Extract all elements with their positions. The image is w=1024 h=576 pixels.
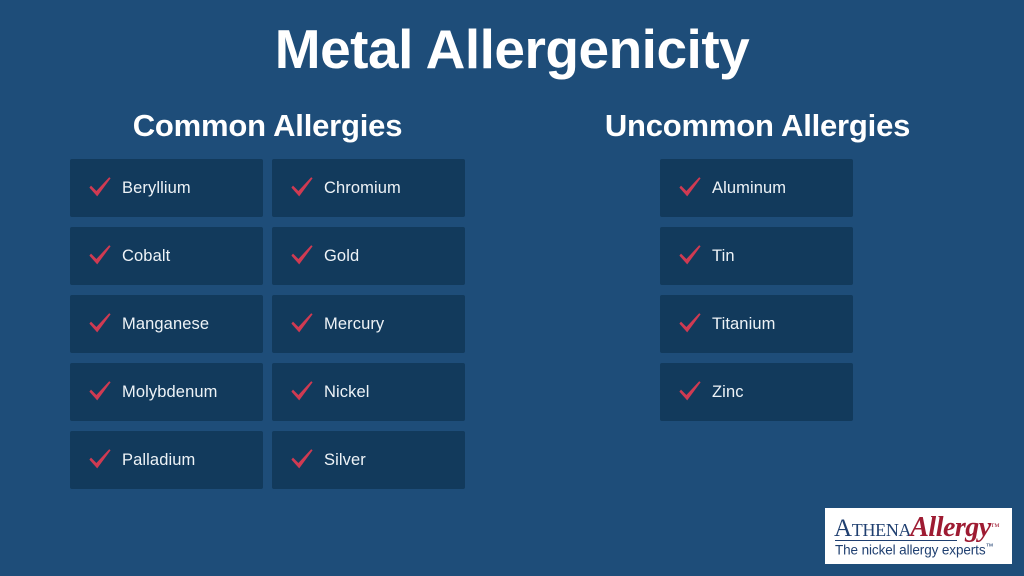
list-item-label: Chromium — [324, 178, 401, 198]
check-icon — [87, 446, 113, 472]
list-item[interactable]: Gold — [272, 227, 465, 285]
logo-wordmark: AthenaAllergy™ — [834, 514, 1000, 542]
page-title: Metal Allergenicity — [0, 16, 1024, 82]
logo-name-primary: Athena — [834, 515, 911, 542]
list-item-label: Beryllium — [122, 178, 191, 198]
list-item[interactable]: Nickel — [272, 363, 465, 421]
list-item[interactable]: Palladium — [70, 431, 263, 489]
check-icon — [87, 378, 113, 404]
list-item[interactable]: Titanium — [660, 295, 853, 353]
list-item-label: Manganese — [122, 314, 209, 334]
check-icon — [677, 378, 703, 404]
list-item[interactable]: Silver — [272, 431, 465, 489]
logo-tagline: The nickel allergy experts™ — [835, 542, 993, 558]
logo-name-secondary: Allergy — [910, 512, 991, 543]
check-icon — [289, 242, 315, 268]
logo-tagline-text: The nickel allergy experts — [835, 543, 985, 558]
list-item[interactable]: Molybdenum — [70, 363, 263, 421]
check-icon — [677, 242, 703, 268]
check-icon — [677, 174, 703, 200]
check-icon — [289, 446, 315, 472]
brand-logo: AthenaAllergy™ The nickel allergy expert… — [825, 508, 1012, 564]
logo-divider — [835, 540, 957, 541]
list-item-label: Gold — [324, 246, 359, 266]
list-item-label: Aluminum — [712, 178, 786, 198]
slide-root: Metal Allergenicity Common Allergies Unc… — [0, 0, 1024, 576]
list-item[interactable]: Cobalt — [70, 227, 263, 285]
list-item-label: Nickel — [324, 382, 370, 402]
list-item[interactable]: Beryllium — [70, 159, 263, 217]
list-item-label: Zinc — [712, 382, 744, 402]
list-item-label: Cobalt — [122, 246, 170, 266]
check-icon — [677, 310, 703, 336]
check-icon — [87, 174, 113, 200]
list-item[interactable]: Manganese — [70, 295, 263, 353]
uncommon-allergies-column: Aluminum Tin Titanium Zinc — [660, 159, 853, 421]
check-icon — [289, 310, 315, 336]
list-item-label: Tin — [712, 246, 735, 266]
check-icon — [289, 174, 315, 200]
logo-tagline-trademark-icon: ™ — [985, 542, 993, 551]
check-icon — [87, 310, 113, 336]
check-icon — [87, 242, 113, 268]
section-heading-common: Common Allergies — [70, 107, 465, 145]
logo-inner: AthenaAllergy™ The nickel allergy expert… — [825, 508, 1012, 564]
list-item-label: Silver — [324, 450, 366, 470]
list-item-label: Palladium — [122, 450, 195, 470]
list-item-label: Molybdenum — [122, 382, 217, 402]
section-heading-uncommon: Uncommon Allergies — [560, 107, 955, 145]
check-icon — [289, 378, 315, 404]
list-item[interactable]: Aluminum — [660, 159, 853, 217]
list-item[interactable]: Chromium — [272, 159, 465, 217]
common-allergies-column-1: Beryllium Cobalt Manganese Molybdenum Pa — [70, 159, 263, 489]
list-item-label: Titanium — [712, 314, 775, 334]
list-item-label: Mercury — [324, 314, 384, 334]
list-item[interactable]: Tin — [660, 227, 853, 285]
common-allergies-column-2: Chromium Gold Mercury Nickel Silver — [272, 159, 465, 489]
list-item[interactable]: Mercury — [272, 295, 465, 353]
logo-trademark-icon: ™ — [991, 522, 1000, 532]
list-item[interactable]: Zinc — [660, 363, 853, 421]
